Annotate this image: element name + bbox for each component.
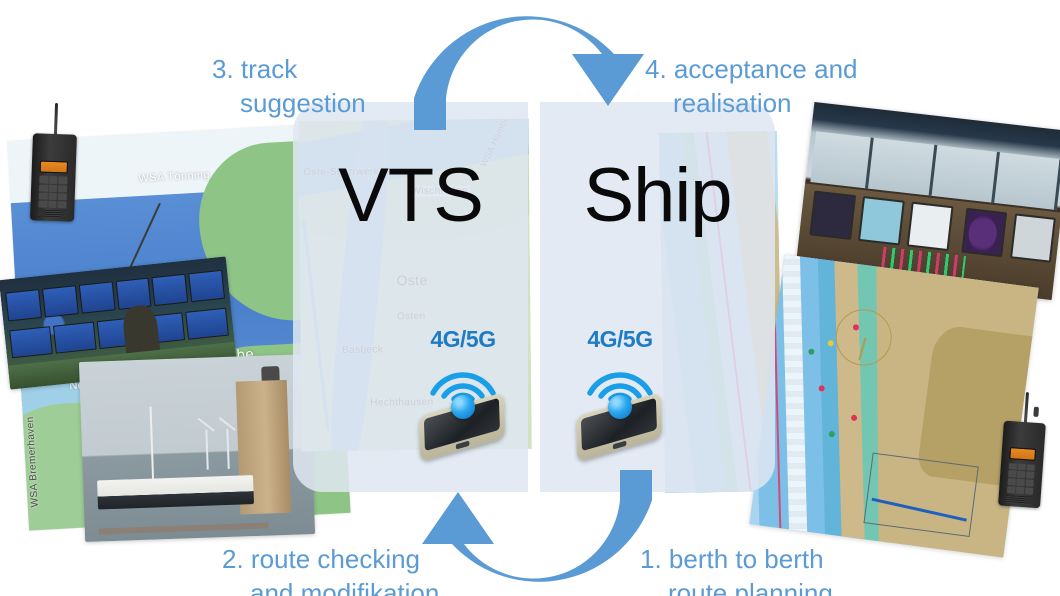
map-label-osten: Osten: [397, 311, 426, 322]
step-3-line2: suggestion: [212, 87, 366, 120]
smartphone-home-button: [613, 441, 627, 450]
radio-body: [30, 133, 77, 222]
data-sphere-icon: [451, 395, 475, 419]
step-caption-2: 2. route checking and modifikation: [222, 510, 439, 596]
monitor: [78, 282, 115, 314]
radio-speaker-grille: [1006, 495, 1033, 505]
smartphone-home-button: [456, 441, 470, 450]
monitor: [42, 285, 79, 317]
chart-buoy: [808, 348, 815, 355]
step-caption-4: 4. acceptance and realisation: [645, 20, 858, 153]
bridge-window-pane: [873, 138, 937, 195]
handheld-radio-left: [26, 102, 82, 222]
monitor: [189, 270, 226, 302]
vessel-mast: [150, 406, 155, 478]
connectivity-node-vts: 4G/5G: [408, 326, 518, 447]
chart-buoy: [852, 324, 859, 331]
bridge-display-conning: [907, 202, 953, 251]
monitor: [115, 278, 152, 310]
bridge-window-pane: [936, 146, 1000, 203]
bridge-display-aux: [1010, 214, 1056, 263]
monitor: [9, 326, 53, 359]
step-2-line2: and modifikation: [222, 577, 439, 596]
node-label-4g5g-vts: 4G/5G: [408, 326, 518, 353]
chart-berth-area-box: [863, 453, 979, 537]
panel-title-vts: VTS: [293, 158, 528, 234]
chart-buoy: [828, 430, 835, 437]
chart-buoy: [827, 340, 834, 347]
monitor: [5, 289, 42, 321]
step-caption-1: 1. berth to berth route planning: [640, 510, 833, 596]
radio-knob: [1033, 406, 1038, 417]
diagram-canvas: WSA Tönning Scharhörn Nordsee Neuwerk El…: [0, 0, 1060, 596]
radio-speaker-grille: [38, 209, 66, 218]
smartphone-graphic-vts: [408, 355, 518, 447]
step-4-line1: 4. acceptance and: [645, 54, 858, 84]
moored-vessel: [97, 475, 254, 509]
panel-title-ship: Ship: [540, 158, 775, 234]
monitor: [152, 274, 189, 306]
step-3-line1: 3. track: [212, 54, 297, 84]
wind-turbine: [206, 430, 209, 470]
step-4-line2: realisation: [645, 87, 858, 120]
step-1-line2: route planning: [640, 577, 833, 596]
wind-turbine: [226, 429, 229, 469]
node-label-4g5g-ship: 4G/5G: [565, 326, 675, 353]
radio-keypad: [38, 176, 67, 208]
arrow-vts-to-ship: [392, 2, 674, 132]
connectivity-node-ship: 4G/5G: [565, 326, 675, 447]
bridge-display-radar-left: [810, 191, 856, 240]
handheld-radio-right: [994, 390, 1052, 508]
radio-display: [1009, 447, 1037, 461]
step-1-line1: 1. berth to berth: [640, 544, 824, 574]
radio-keypad: [1006, 463, 1035, 495]
step-2-line1: 2. route checking: [222, 544, 420, 574]
radio-display: [40, 160, 68, 173]
smartphone-graphic-ship: [565, 355, 675, 447]
map-label-oste: Oste: [396, 272, 427, 288]
monitor: [53, 321, 97, 354]
monitor: [185, 307, 229, 340]
data-sphere-icon: [608, 395, 632, 419]
bridge-display-ecdis: [858, 196, 904, 245]
bridge-window-pane: [999, 153, 1060, 210]
step-caption-3: 3. track suggestion: [212, 20, 366, 153]
map-label-basbeck: Basbeck: [342, 345, 383, 356]
radio-body: [998, 420, 1046, 508]
